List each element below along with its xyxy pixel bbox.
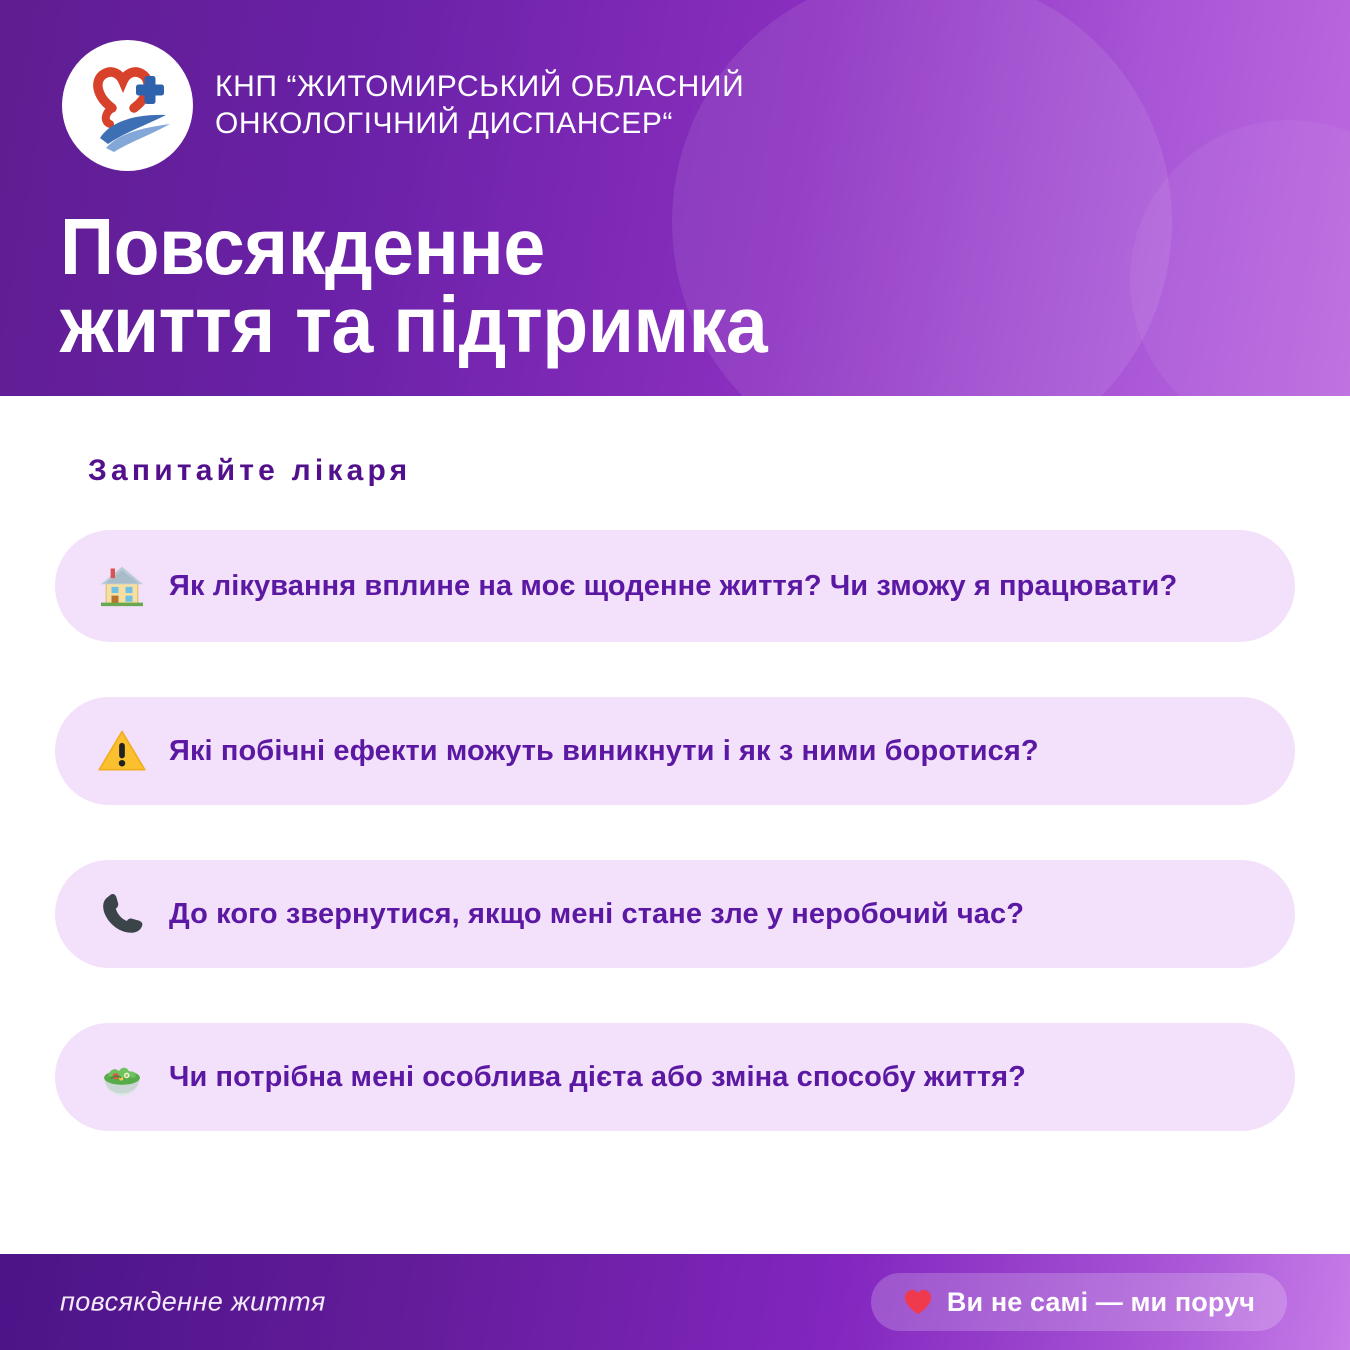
- poster-root: КНП “ЖИТОМИРСЬКИЙ ОБЛАСНИЙ ОНКОЛОГІЧНИЙ …: [0, 0, 1350, 1350]
- question-card[interactable]: Які побічні ефекти можуть виникнути і як…: [55, 697, 1295, 805]
- heart-cross-leaf-logo-icon: [74, 52, 182, 160]
- footer-bar: повсякденне життя Ви не самі — ми поруч: [0, 1254, 1350, 1350]
- footer-topic-label: повсякденне життя: [60, 1287, 326, 1318]
- warning-triangle-icon: [89, 718, 155, 784]
- question-card[interactable]: Як лікування вплине на моє щоденне життя…: [55, 530, 1295, 642]
- question-text: До кого звернутися, якщо мені стане зле …: [169, 895, 1024, 933]
- support-badge-text: Ви не самі — ми поруч: [947, 1287, 1255, 1318]
- main-content: Запитайте лікаря: [0, 396, 1350, 1254]
- header-banner: КНП “ЖИТОМИРСЬКИЙ ОБЛАСНИЙ ОНКОЛОГІЧНИЙ …: [0, 0, 1350, 396]
- question-text: Чи потрібна мені особлива дієта або змін…: [169, 1058, 1026, 1096]
- page-title: Повсякденне життя та підтримка: [60, 208, 767, 365]
- section-title: Запитайте лікаря: [88, 454, 411, 488]
- support-badge[interactable]: Ви не самі — ми поруч: [871, 1273, 1287, 1331]
- house-icon: [89, 553, 155, 619]
- telephone-receiver-icon: [89, 881, 155, 947]
- question-text: Які побічні ефекти можуть виникнути і як…: [169, 732, 1039, 770]
- question-text: Як лікування вплине на моє щоденне життя…: [169, 567, 1177, 605]
- question-card[interactable]: Чи потрібна мені особлива дієта або змін…: [55, 1023, 1295, 1131]
- brand-block: КНП “ЖИТОМИРСЬКИЙ ОБЛАСНИЙ ОНКОЛОГІЧНИЙ …: [62, 40, 744, 171]
- green-salad-icon: [89, 1044, 155, 1110]
- red-heart-icon: [903, 1288, 933, 1316]
- organization-name: КНП “ЖИТОМИРСЬКИЙ ОБЛАСНИЙ ОНКОЛОГІЧНИЙ …: [215, 69, 744, 142]
- question-card[interactable]: До кого звернутися, якщо мені стане зле …: [55, 860, 1295, 968]
- question-card-list: Як лікування вплине на моє щоденне життя…: [0, 530, 1350, 1131]
- organization-logo: [62, 40, 193, 171]
